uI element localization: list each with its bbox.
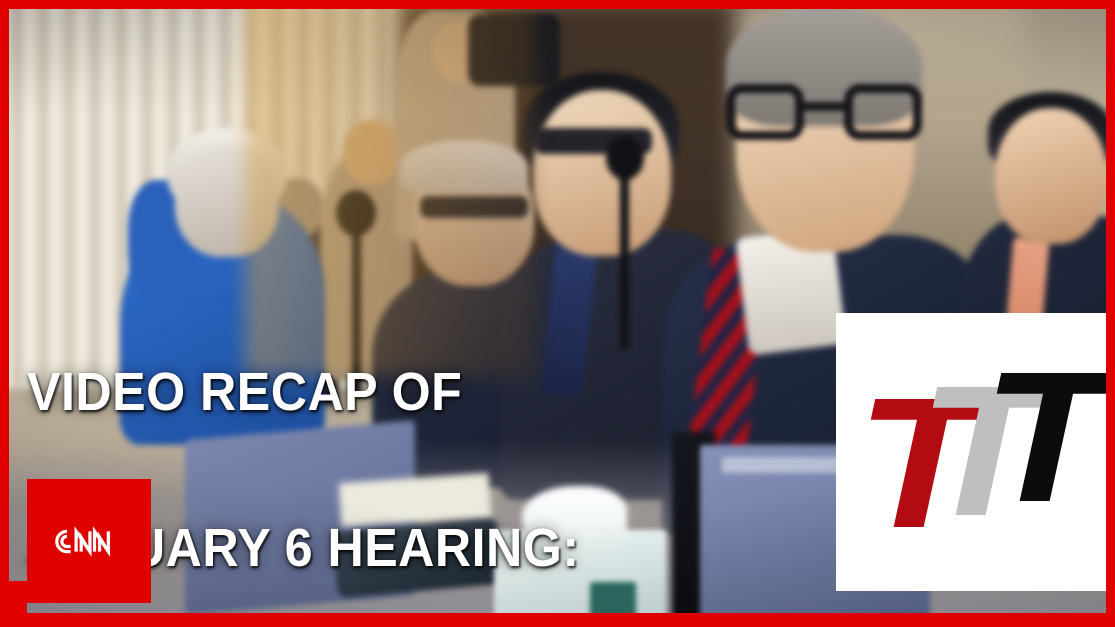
cnn-logo-badge	[27, 479, 151, 603]
video-thumbnail[interactable]: VIDEO RECAP OF JANUARY 6 HEARING: JUNE 1…	[0, 0, 1115, 627]
ttt-letter-black-icon: T	[982, 345, 1109, 531]
ttt-glyph-group: T T T	[854, 353, 1098, 553]
microphone-head	[336, 190, 376, 236]
background-photographer-head	[432, 20, 492, 82]
balding-man-glasses	[420, 196, 528, 218]
grey-haired-man-glasses	[726, 84, 922, 142]
woman-head	[175, 145, 279, 257]
background-person-head	[343, 120, 401, 184]
microphone-head	[606, 136, 644, 180]
title-line-1: VIDEO RECAP OF	[27, 366, 678, 418]
salmon-tie-man-head	[995, 108, 1107, 244]
dark-haired-man-head	[533, 90, 671, 256]
cnn-wordmark-icon	[43, 519, 135, 563]
ttt-logo-panel: T T T	[836, 313, 1115, 591]
background-person-head	[268, 178, 324, 238]
balding-man-hair	[400, 140, 528, 192]
camera	[468, 14, 560, 86]
background-photographer	[395, 10, 515, 240]
